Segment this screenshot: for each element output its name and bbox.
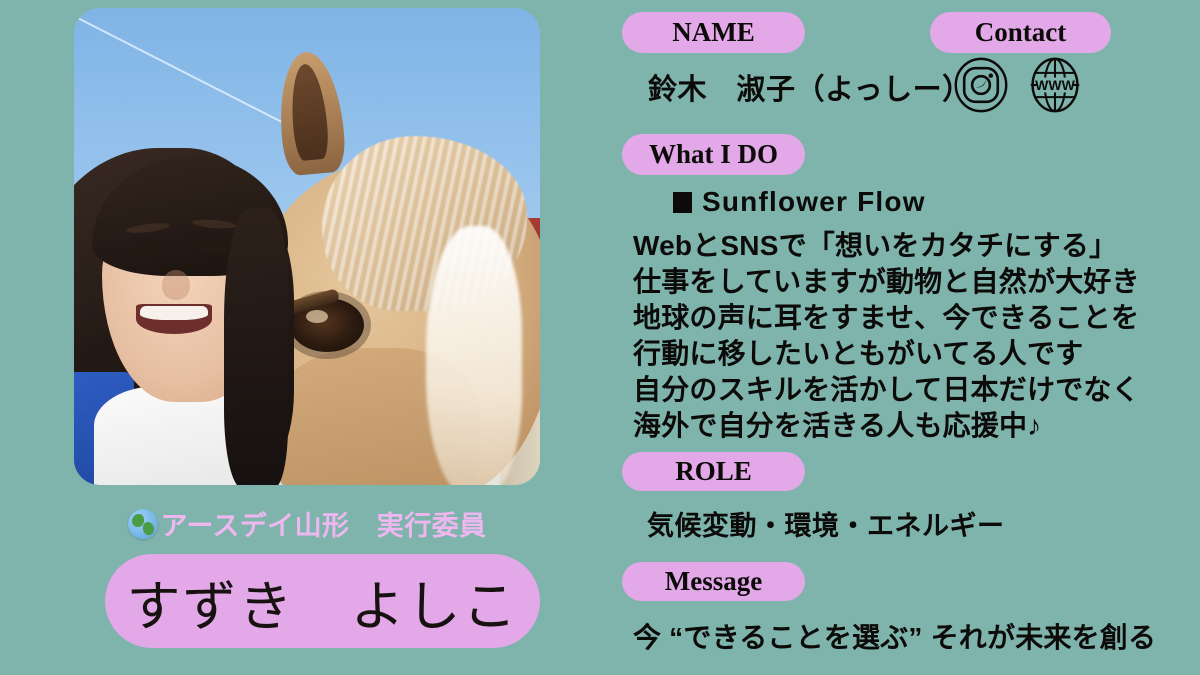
role-value: 気候変動・環境・エネルギー <box>647 504 1005 543</box>
name-value: 鈴木 淑子（よっしー） <box>648 66 972 108</box>
www-label: WWW <box>1035 77 1075 93</box>
instagram-icon[interactable] <box>953 57 1009 113</box>
profile-card: アースデイ山形 実行委員 すずき よしこ NAME 鈴木 淑子（よっしー） Co… <box>0 0 1200 675</box>
what-i-do-heading-text: Sunflower Flow <box>702 186 926 218</box>
contact-icons: WWW <box>953 57 1083 113</box>
photo-woman-mouth <box>136 304 212 334</box>
square-bullet-icon <box>673 192 692 213</box>
organization-line: アースデイ山形 実行委員 <box>74 504 540 543</box>
name-banner: すずき よしこ <box>105 554 540 648</box>
photo-woman-nose <box>162 270 190 300</box>
profile-photo <box>74 8 540 485</box>
badge-name: NAME <box>622 12 805 53</box>
message-value: 今 “できることを選ぶ” それが未来を創る <box>633 616 1156 656</box>
badge-message: Message <box>622 562 805 601</box>
what-i-do-body: WebとSNSで「想いをカタチにする」 仕事をしていますが動物と自然が大好き 地… <box>633 228 1193 444</box>
details-column: NAME 鈴木 淑子（よっしー） Contact WWW What I DO <box>615 0 1200 675</box>
badge-role: ROLE <box>622 452 805 491</box>
what-i-do-heading: Sunflower Flow <box>673 186 926 218</box>
photo-woman-teeth <box>140 306 208 320</box>
website-www-icon[interactable]: WWW <box>1027 57 1083 113</box>
badge-what-i-do: What I DO <box>622 134 805 175</box>
name-banner-text: すずき よしこ <box>127 562 519 641</box>
earth-globe-icon <box>128 509 158 539</box>
badge-contact: Contact <box>930 12 1111 53</box>
organization-label: アースデイ山形 実行委員 <box>161 504 487 543</box>
photo-woman-hair-strand <box>224 208 288 485</box>
photo-horse-blaze <box>426 226 522 485</box>
